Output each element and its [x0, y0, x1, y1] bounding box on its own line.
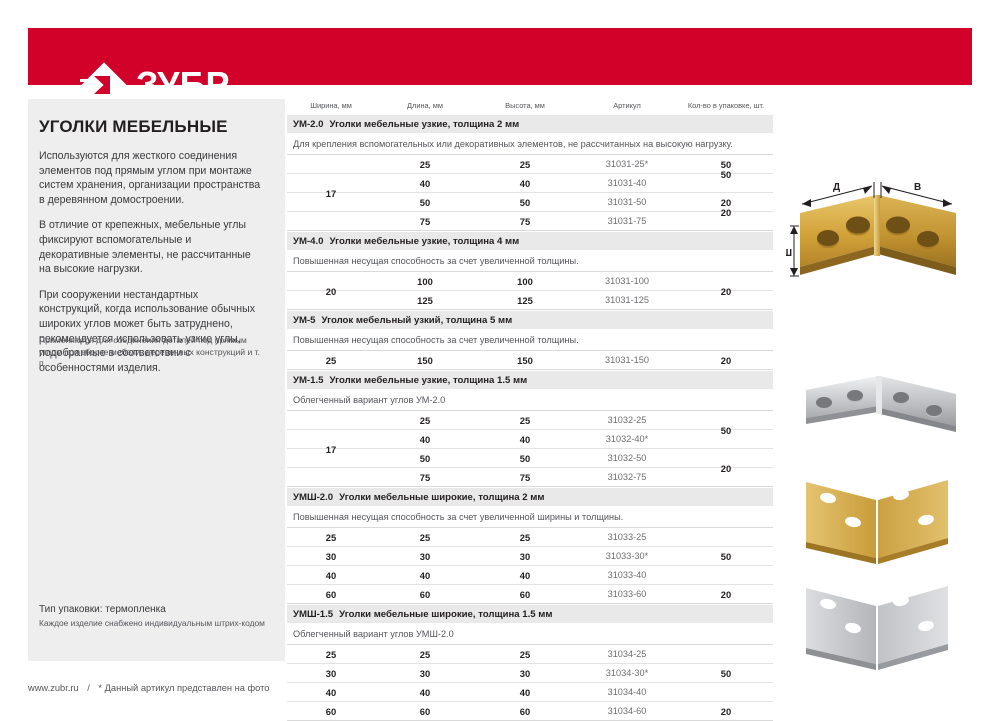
- section-code: УМ-4.0: [293, 236, 324, 247]
- brand-name: ЗУБР: [136, 67, 229, 103]
- column-header-qty: Кол-во в упаковке, шт.: [679, 101, 773, 110]
- section-rows: 10010031031-10012512531031-1252020: [287, 271, 773, 310]
- cell-qty: 20: [679, 706, 773, 717]
- section-header: УМ-4.0Уголки мебельные узкие, толщина 4 …: [287, 231, 773, 250]
- section-rows: 252531031-25*50404031031-40505031031-502…: [287, 154, 773, 231]
- section-code: УМ-1.5: [293, 375, 324, 386]
- section-header: УМ-5Уголок мебельный узкий, толщина 5 мм: [287, 310, 773, 329]
- section-subnote: Облегченный вариант углов УМ-2.0: [287, 389, 773, 410]
- cell-qty-merged: 20: [679, 193, 773, 231]
- table-section: УМШ-2.0Уголки мебельные широкие, толщина…: [287, 487, 773, 604]
- cell-article: 31031-25*: [575, 159, 679, 169]
- catalog-page: ЗУБР УГОЛКИ МЕБЕЛЬНЫЕ Используются для ж…: [0, 0, 1000, 707]
- cell-length: 125: [375, 295, 475, 306]
- cell-article: 31031-50: [575, 197, 679, 207]
- section-header: УМ-2.0Уголки мебельные узкие, толщина 2 …: [287, 114, 773, 133]
- section-title: Уголки мебельные узкие, толщина 4 мм: [330, 236, 520, 247]
- footer-separator: /: [87, 683, 90, 693]
- website-link[interactable]: www.zubr.ru: [28, 683, 79, 693]
- cell-height: 40: [475, 178, 575, 189]
- photo-brass-wide-bracket: [798, 480, 973, 580]
- dim-label-width: Ш: [786, 248, 792, 259]
- column-header-height: Высота, мм: [475, 101, 575, 110]
- cell-width-merged: 17: [287, 411, 375, 487]
- cell-length: 25: [375, 532, 475, 543]
- table-row: 30303031033-30*50: [287, 547, 773, 566]
- specification-table: Ширина, мм Длина, мм Высота, мм Артикул …: [287, 96, 773, 721]
- cell-width: 30: [287, 551, 375, 562]
- cell-length: 40: [375, 687, 475, 698]
- cell-length: 60: [375, 706, 475, 717]
- cell-height: 125: [475, 295, 575, 306]
- cell-length: 50: [375, 453, 475, 464]
- cell-height: 100: [475, 276, 575, 287]
- cell-width: 40: [287, 570, 375, 581]
- cell-height: 50: [475, 197, 575, 208]
- info-sidebar: УГОЛКИ МЕБЕЛЬНЫЕ Используются для жестко…: [28, 99, 285, 661]
- cell-length: 25: [375, 649, 475, 660]
- table-row: 2515015031031-15020: [287, 351, 773, 370]
- cell-height: 75: [475, 472, 575, 483]
- cell-height: 40: [475, 434, 575, 445]
- cell-article: 31031-40: [575, 178, 679, 188]
- cell-width: 60: [287, 589, 375, 600]
- section-subnote: Облегченный вариант углов УМШ-2.0: [287, 623, 773, 644]
- bracket-diagram-svg: Д В Ш: [786, 168, 986, 296]
- section-subnote: Повышенная несущая способность за счет у…: [287, 506, 773, 527]
- table-sections: УМ-2.0Уголки мебельные узкие, толщина 2 …: [287, 114, 773, 721]
- cell-height: 40: [475, 687, 575, 698]
- packaging-info: Тип упаковки: термопленка Каждое изделие…: [39, 603, 269, 630]
- table-row: 30303031034-30*50: [287, 664, 773, 683]
- section-title: Уголки мебельные широкие, толщина 1.5 мм: [339, 609, 552, 620]
- page-title: УГОЛКИ МЕБЕЛЬНЫЕ: [39, 117, 274, 137]
- cell-height: 60: [475, 589, 575, 600]
- photo-zinc-narrow-bracket: [800, 372, 980, 442]
- section-code: УМ-2.0: [293, 119, 324, 130]
- cell-height: 25: [475, 649, 575, 660]
- cell-article: 31033-60: [575, 589, 679, 599]
- section-subnote: Повышенная несущая способность за счет у…: [287, 250, 773, 271]
- cell-article: 31032-25: [575, 415, 679, 425]
- cell-length: 30: [375, 668, 475, 679]
- table-section: УМ-2.0Уголки мебельные узкие, толщина 2 …: [287, 114, 773, 231]
- cell-qty-merged: 50: [679, 155, 773, 193]
- cell-width: 25: [287, 532, 375, 543]
- section-header: УМШ-2.0Уголки мебельные широкие, толщина…: [287, 487, 773, 506]
- cell-article: 31032-50: [575, 453, 679, 463]
- cell-length: 40: [375, 434, 475, 445]
- section-title: Уголки мебельные широкие, толщина 2 мм: [339, 492, 544, 503]
- cell-height: 25: [475, 159, 575, 170]
- packaging-barcode-note: Каждое изделие снабжено индивидуальным ш…: [39, 617, 269, 630]
- section-header: УМШ-1.5Уголки мебельные широкие, толщина…: [287, 604, 773, 623]
- table-row: 25252531033-25: [287, 528, 773, 547]
- cell-width: 25: [287, 649, 375, 660]
- cell-length: 25: [375, 415, 475, 426]
- table-row: 40404031033-40: [287, 566, 773, 585]
- column-header-length: Длина, мм: [375, 101, 475, 110]
- sidebar-usage-note: Применяются для соединения деталей под п…: [39, 335, 267, 370]
- table-section: УМ-4.0Уголки мебельные узкие, толщина 4 …: [287, 231, 773, 310]
- cell-height: 30: [475, 668, 575, 679]
- cell-qty: 20: [679, 355, 773, 366]
- cell-width: 25: [287, 355, 375, 366]
- dim-label-length: Д: [833, 182, 840, 193]
- cell-article: 31032-40*: [575, 434, 679, 444]
- cell-length: 40: [375, 570, 475, 581]
- section-subnote: Повышенная несущая способность за счет у…: [287, 329, 773, 350]
- section-title: Уголок мебельный узкий, толщина 5 мм: [322, 315, 513, 326]
- cell-height: 25: [475, 532, 575, 543]
- photo-brass-narrow-bracket-dimensioned: Д В Ш: [786, 168, 986, 296]
- cell-article: 31033-40: [575, 570, 679, 580]
- cell-qty-merged: 20: [679, 449, 773, 487]
- cell-qty: 50: [679, 551, 773, 562]
- cell-height: 60: [475, 706, 575, 717]
- cell-height: 40: [475, 570, 575, 581]
- cell-length: 30: [375, 551, 475, 562]
- section-rows: 25252531034-2530303031034-30*50404040310…: [287, 644, 773, 721]
- footnote-text: * Данный артикул представлен на фото: [98, 683, 269, 693]
- cell-qty-merged: 20: [679, 272, 773, 310]
- section-rows: 2515015031031-15020: [287, 350, 773, 370]
- section-header: УМ-1.5Уголки мебельные узкие, толщина 1.…: [287, 370, 773, 389]
- cell-article: 31031-125: [575, 295, 679, 305]
- sidebar-paragraph: Используются для жесткого соединения эле…: [39, 149, 263, 207]
- cell-article: 31033-25: [575, 532, 679, 542]
- cell-article: 31033-30*: [575, 551, 679, 561]
- cell-article: 31034-60: [575, 706, 679, 716]
- cell-qty: 50: [679, 668, 773, 679]
- section-code: УМШ-2.0: [293, 492, 333, 503]
- section-code: УМ-5: [293, 315, 316, 326]
- cell-article: 31031-100: [575, 276, 679, 286]
- cell-article: 31034-30*: [575, 668, 679, 678]
- cell-qty-merged: 50: [679, 411, 773, 449]
- photo-zinc-wide-bracket: [798, 586, 973, 686]
- cell-height: 30: [475, 551, 575, 562]
- table-header-row: Ширина, мм Длина, мм Высота, мм Артикул …: [287, 96, 773, 114]
- cell-height: 50: [475, 453, 575, 464]
- cell-height: 150: [475, 355, 575, 366]
- cell-height: 75: [475, 216, 575, 227]
- cell-article: 31034-25: [575, 649, 679, 659]
- dim-label-height: В: [914, 182, 921, 193]
- cell-length: 100: [375, 276, 475, 287]
- cell-width-merged: 20: [287, 272, 375, 310]
- cell-length: 75: [375, 472, 475, 483]
- section-subnote: Для крепления вспомогательных или декора…: [287, 133, 773, 154]
- cell-length: 25: [375, 159, 475, 170]
- column-header-width: Ширина, мм: [287, 101, 375, 110]
- table-section: УМ-1.5Уголки мебельные узкие, толщина 1.…: [287, 370, 773, 487]
- cell-length: 40: [375, 178, 475, 189]
- column-header-article: Артикул: [575, 101, 679, 110]
- cell-length: 150: [375, 355, 475, 366]
- sidebar-paragraph: В отличие от крепежных, мебельные углы ф…: [39, 218, 263, 276]
- table-row: 60606031033-6020: [287, 585, 773, 604]
- cell-length: 75: [375, 216, 475, 227]
- cell-article: 31031-150: [575, 355, 679, 365]
- cell-width-merged: 17: [287, 155, 375, 231]
- table-row: 25252531034-25: [287, 645, 773, 664]
- brand-header-bar: ЗУБР: [28, 28, 972, 85]
- section-rows: 25252531033-2530303031033-30*50404040310…: [287, 527, 773, 604]
- cell-width: 40: [287, 687, 375, 698]
- cell-article: 31034-40: [575, 687, 679, 697]
- section-title: Уголки мебельные узкие, толщина 1.5 мм: [330, 375, 528, 386]
- table-row: 40404031034-40: [287, 683, 773, 702]
- cell-article: 31031-75: [575, 216, 679, 226]
- table-section: УМШ-1.5Уголки мебельные широкие, толщина…: [287, 604, 773, 721]
- cell-qty: 20: [679, 589, 773, 600]
- section-code: УМШ-1.5: [293, 609, 333, 620]
- cell-width: 60: [287, 706, 375, 717]
- table-section: УМ-5Уголок мебельный узкий, толщина 5 мм…: [287, 310, 773, 370]
- section-rows: 252531032-25404031032-40*505031032-50757…: [287, 410, 773, 487]
- packaging-type: Тип упаковки: термопленка: [39, 603, 269, 617]
- cell-length: 50: [375, 197, 475, 208]
- cell-article: 31032-75: [575, 472, 679, 482]
- section-title: Уголки мебельные узкие, толщина 2 мм: [330, 119, 520, 130]
- cell-length: 60: [375, 589, 475, 600]
- table-row: 60606031034-6020: [287, 702, 773, 721]
- cell-height: 25: [475, 415, 575, 426]
- cell-width: 30: [287, 668, 375, 679]
